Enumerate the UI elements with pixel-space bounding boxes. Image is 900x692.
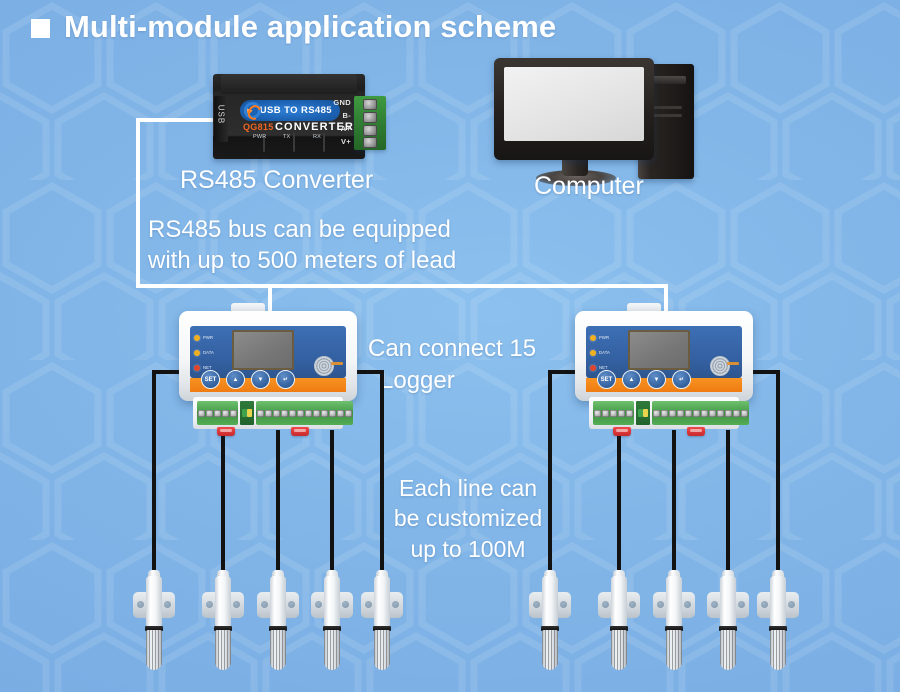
logger-button-up[interactable]: ▲ bbox=[622, 370, 641, 389]
sensor-filter-tip bbox=[374, 630, 390, 670]
led-label-pwr: PWR bbox=[203, 335, 213, 340]
sensor-probe bbox=[707, 570, 749, 676]
sensor-cable-r1 bbox=[548, 370, 552, 578]
logger-led-pwr: PWR bbox=[590, 330, 624, 345]
converter-body: USB USB TO RS485 QG815 CONVERTER PWR TX … bbox=[213, 74, 365, 159]
led-label-pwr: PWR bbox=[599, 335, 609, 340]
logger-indicator-pcb bbox=[240, 401, 254, 425]
tower-vent bbox=[650, 106, 682, 109]
logger-shell: PWR DATA NET SET ▲ bbox=[179, 311, 357, 401]
logger-brand-mark bbox=[331, 362, 343, 365]
logger-led-group: PWR DATA NET bbox=[194, 330, 228, 375]
sensor-probe bbox=[757, 570, 799, 676]
led-label-data: DATA bbox=[203, 350, 214, 355]
sensor-filter-tip bbox=[770, 630, 786, 670]
logger-lcd-display bbox=[232, 330, 294, 370]
converter-led-pwr: PWR bbox=[253, 134, 275, 152]
logger-button-enter[interactable]: ↵ bbox=[672, 370, 691, 389]
logger-button-enter[interactable]: ↵ bbox=[276, 370, 295, 389]
bus-line-from-converter bbox=[136, 118, 216, 122]
rs485-converter-device: USB USB TO RS485 QG815 CONVERTER PWR TX … bbox=[213, 74, 387, 159]
sensor-filter-tip bbox=[720, 630, 736, 670]
logger-terminal-block-left bbox=[197, 401, 238, 425]
converter-led-tx: TX bbox=[283, 134, 305, 152]
converter-terminal-labels: GND B- A+ V+ bbox=[323, 96, 351, 148]
monitor-screen bbox=[504, 67, 644, 141]
led-dot-pwr-icon bbox=[590, 335, 596, 341]
sensor-body bbox=[374, 576, 390, 628]
sensor-filter-tip bbox=[542, 630, 558, 670]
sensor-filter-tip bbox=[146, 630, 162, 670]
logger-button-down[interactable]: ▼ bbox=[647, 370, 666, 389]
line-length-note: Each line can be customized up to 100M bbox=[388, 473, 548, 564]
logger-button-row: SET ▲ ▼ ↵ bbox=[597, 370, 691, 389]
page-title: Multi-module application scheme bbox=[31, 9, 556, 45]
sensor-cable-r3 bbox=[672, 430, 676, 578]
terminal-label-b: B- bbox=[323, 109, 351, 122]
logger-led-group: PWR DATA NET bbox=[590, 330, 624, 375]
logger-terminal-block-right bbox=[256, 401, 353, 425]
sensor-cable-r5 bbox=[776, 370, 780, 578]
speaker-grille-icon bbox=[314, 356, 334, 376]
bus-line-horizontal-main bbox=[136, 284, 668, 288]
converter-led-rx-label: RX bbox=[313, 134, 321, 140]
sensor-cable-l4 bbox=[330, 430, 334, 578]
terminal-label-v: V+ bbox=[323, 135, 351, 148]
converter-model-text: QG815 bbox=[243, 122, 274, 132]
sensor-cable-r4 bbox=[726, 430, 730, 578]
sensor-body bbox=[666, 576, 682, 628]
bus-note-line2: with up to 500 meters of lead bbox=[148, 247, 456, 274]
logger-button-set[interactable]: SET bbox=[597, 370, 616, 389]
logger-button-up[interactable]: ▲ bbox=[226, 370, 245, 389]
sensor-body bbox=[270, 576, 286, 628]
converter-led-tx-label: TX bbox=[283, 134, 290, 140]
sensor-filter-tip bbox=[324, 630, 340, 670]
sensor-cable-l3 bbox=[276, 430, 280, 578]
converter-led-pwr-label: PWR bbox=[253, 134, 266, 140]
logger-button-set[interactable]: SET bbox=[201, 370, 220, 389]
each-line2: be customized bbox=[394, 505, 542, 531]
din-rail-clip-left bbox=[613, 427, 631, 436]
terminal-screw bbox=[363, 112, 377, 123]
application-scheme-diagram: Multi-module application scheme USB USB … bbox=[0, 0, 900, 692]
converter-green-terminal-block bbox=[354, 96, 386, 150]
logger-lcd-display bbox=[628, 330, 690, 370]
each-line3: up to 100M bbox=[410, 536, 525, 562]
sensor-filter-tip bbox=[666, 630, 682, 670]
computer-caption: Computer bbox=[534, 172, 644, 201]
logger-brand-mark bbox=[727, 362, 739, 365]
terminal-screw bbox=[363, 99, 377, 110]
sensor-cable-l2 bbox=[221, 430, 225, 578]
logger-terminal-blocks bbox=[197, 401, 339, 425]
terminal-label-a: A+ bbox=[323, 122, 351, 135]
bullet-square-icon bbox=[31, 19, 50, 38]
logger-led-data: DATA bbox=[194, 345, 228, 360]
tower-vent bbox=[650, 114, 682, 117]
led-dot-pwr-icon bbox=[194, 335, 200, 341]
logger-indicator-pcb bbox=[636, 401, 650, 425]
sensor-filter-tip bbox=[270, 630, 286, 670]
sensor-probe bbox=[361, 570, 403, 676]
sensor-probe bbox=[311, 570, 353, 676]
led-label-data: DATA bbox=[599, 350, 610, 355]
sensor-filter-tip bbox=[611, 630, 627, 670]
logger-capacity-note: Can connect 15 Logger bbox=[368, 333, 536, 397]
led-dot-data-icon bbox=[590, 350, 596, 356]
logger-led-pwr: PWR bbox=[194, 330, 228, 345]
connect-line1: Can connect 15 bbox=[368, 335, 536, 362]
usb-port-label: USB bbox=[217, 99, 226, 131]
sensor-body bbox=[720, 576, 736, 628]
connect-line2: Logger bbox=[368, 365, 536, 397]
din-rail-clip-left bbox=[217, 427, 235, 436]
bus-note-line1: RS485 bus can be equipped bbox=[148, 216, 451, 243]
led-dot-data-icon bbox=[194, 350, 200, 356]
usb-port: USB bbox=[214, 96, 228, 142]
sensor-body bbox=[542, 576, 558, 628]
logger-shell: PWR DATA NET SET ▲ bbox=[575, 311, 753, 401]
monitor-frame bbox=[494, 58, 654, 160]
sensor-body bbox=[770, 576, 786, 628]
sensor-body bbox=[215, 576, 231, 628]
sensor-cable-l1 bbox=[152, 370, 156, 578]
sensor-body bbox=[611, 576, 627, 628]
sensor-body bbox=[146, 576, 162, 628]
sensor-body bbox=[324, 576, 340, 628]
logger-terminal-block-left bbox=[593, 401, 634, 425]
converter-top-shell bbox=[221, 74, 357, 94]
converter-caption: RS485 Converter bbox=[180, 166, 373, 195]
swirl-logo-icon bbox=[244, 102, 261, 119]
bus-length-note: RS485 bus can be equipped with up to 500… bbox=[148, 215, 456, 276]
sensor-probe bbox=[529, 570, 571, 676]
sensor-probe bbox=[257, 570, 299, 676]
each-line1: Each line can bbox=[399, 475, 537, 501]
terminal-screw bbox=[363, 137, 377, 148]
led-dot-net-icon bbox=[590, 365, 596, 371]
logger-terminal-block-right bbox=[652, 401, 749, 425]
din-rail-clip-right bbox=[687, 427, 705, 436]
bus-line-vertical-left bbox=[136, 118, 140, 288]
converter-led-tx-lamp bbox=[293, 133, 295, 152]
logger-terminal-blocks bbox=[593, 401, 735, 425]
logger-button-down[interactable]: ▼ bbox=[251, 370, 270, 389]
computer-device bbox=[494, 58, 694, 188]
data-logger-left: PWR DATA NET SET ▲ bbox=[179, 303, 357, 443]
terminal-screw bbox=[363, 125, 377, 136]
sensor-probe bbox=[202, 570, 244, 676]
sensor-cable-r2 bbox=[617, 430, 621, 578]
terminal-label-gnd: GND bbox=[323, 96, 351, 109]
converter-logo-text: USB TO RS485 bbox=[260, 105, 332, 116]
logger-button-row: SET ▲ ▼ ↵ bbox=[201, 370, 295, 389]
sensor-probe bbox=[653, 570, 695, 676]
data-logger-right: PWR DATA NET SET ▲ bbox=[575, 303, 753, 443]
sensor-probe bbox=[598, 570, 640, 676]
sensor-probe bbox=[133, 570, 175, 676]
din-rail-clip-right bbox=[291, 427, 309, 436]
led-dot-net-icon bbox=[194, 365, 200, 371]
speaker-grille-icon bbox=[710, 356, 730, 376]
page-title-text: Multi-module application scheme bbox=[64, 9, 556, 45]
logger-led-data: DATA bbox=[590, 345, 624, 360]
sensor-cable-l5 bbox=[380, 370, 384, 578]
sensor-filter-tip bbox=[215, 630, 231, 670]
